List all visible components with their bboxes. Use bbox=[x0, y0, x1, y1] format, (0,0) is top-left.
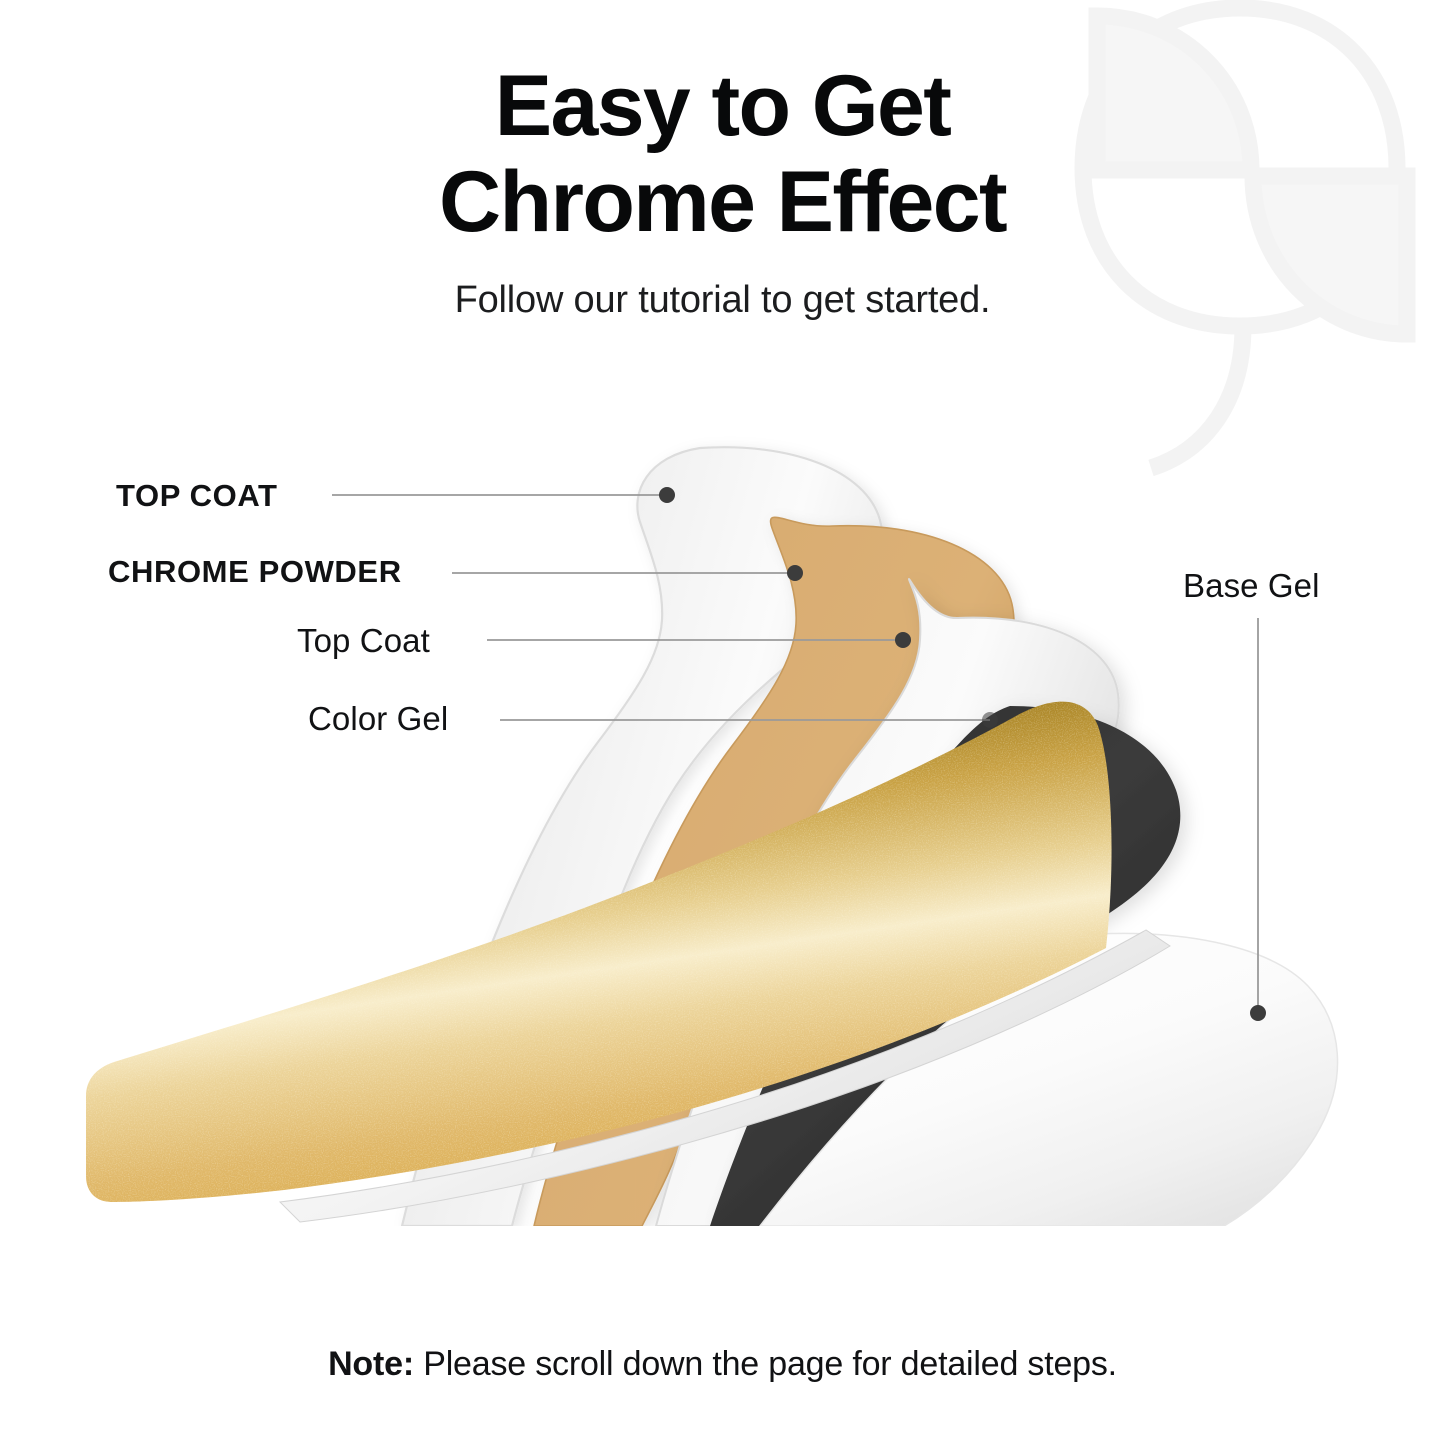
page-title: Easy to Get Chrome Effect bbox=[0, 0, 1445, 251]
callout-label-chrome-powder: CHROME POWDER bbox=[108, 554, 402, 590]
leader-dot-color-gel bbox=[982, 712, 998, 728]
header: Easy to Get Chrome Effect Follow our tut… bbox=[0, 0, 1445, 322]
leader-dot-base-gel bbox=[1250, 1005, 1266, 1021]
leader-dot-chrome-powder bbox=[787, 565, 803, 581]
page-subtitle: Follow our tutorial to get started. bbox=[0, 251, 1445, 322]
callout-label-top-coat-bold: TOP COAT bbox=[116, 478, 278, 514]
footer-note: Note: Please scroll down the page for de… bbox=[0, 1345, 1445, 1384]
callout-label-top-coat: Top Coat bbox=[297, 622, 430, 660]
chrome-effect-infographic: Easy to Get Chrome Effect Follow our tut… bbox=[0, 0, 1445, 1445]
callout-label-color-gel: Color Gel bbox=[308, 700, 448, 738]
footer-note-body: Please scroll down the page for detailed… bbox=[414, 1345, 1117, 1383]
leader-dot-top-coat-bold bbox=[659, 487, 675, 503]
leader-dot-top-coat bbox=[895, 632, 911, 648]
callout-label-base-gel: Base Gel bbox=[1183, 567, 1320, 605]
footer-note-prefix: Note: bbox=[328, 1345, 414, 1383]
